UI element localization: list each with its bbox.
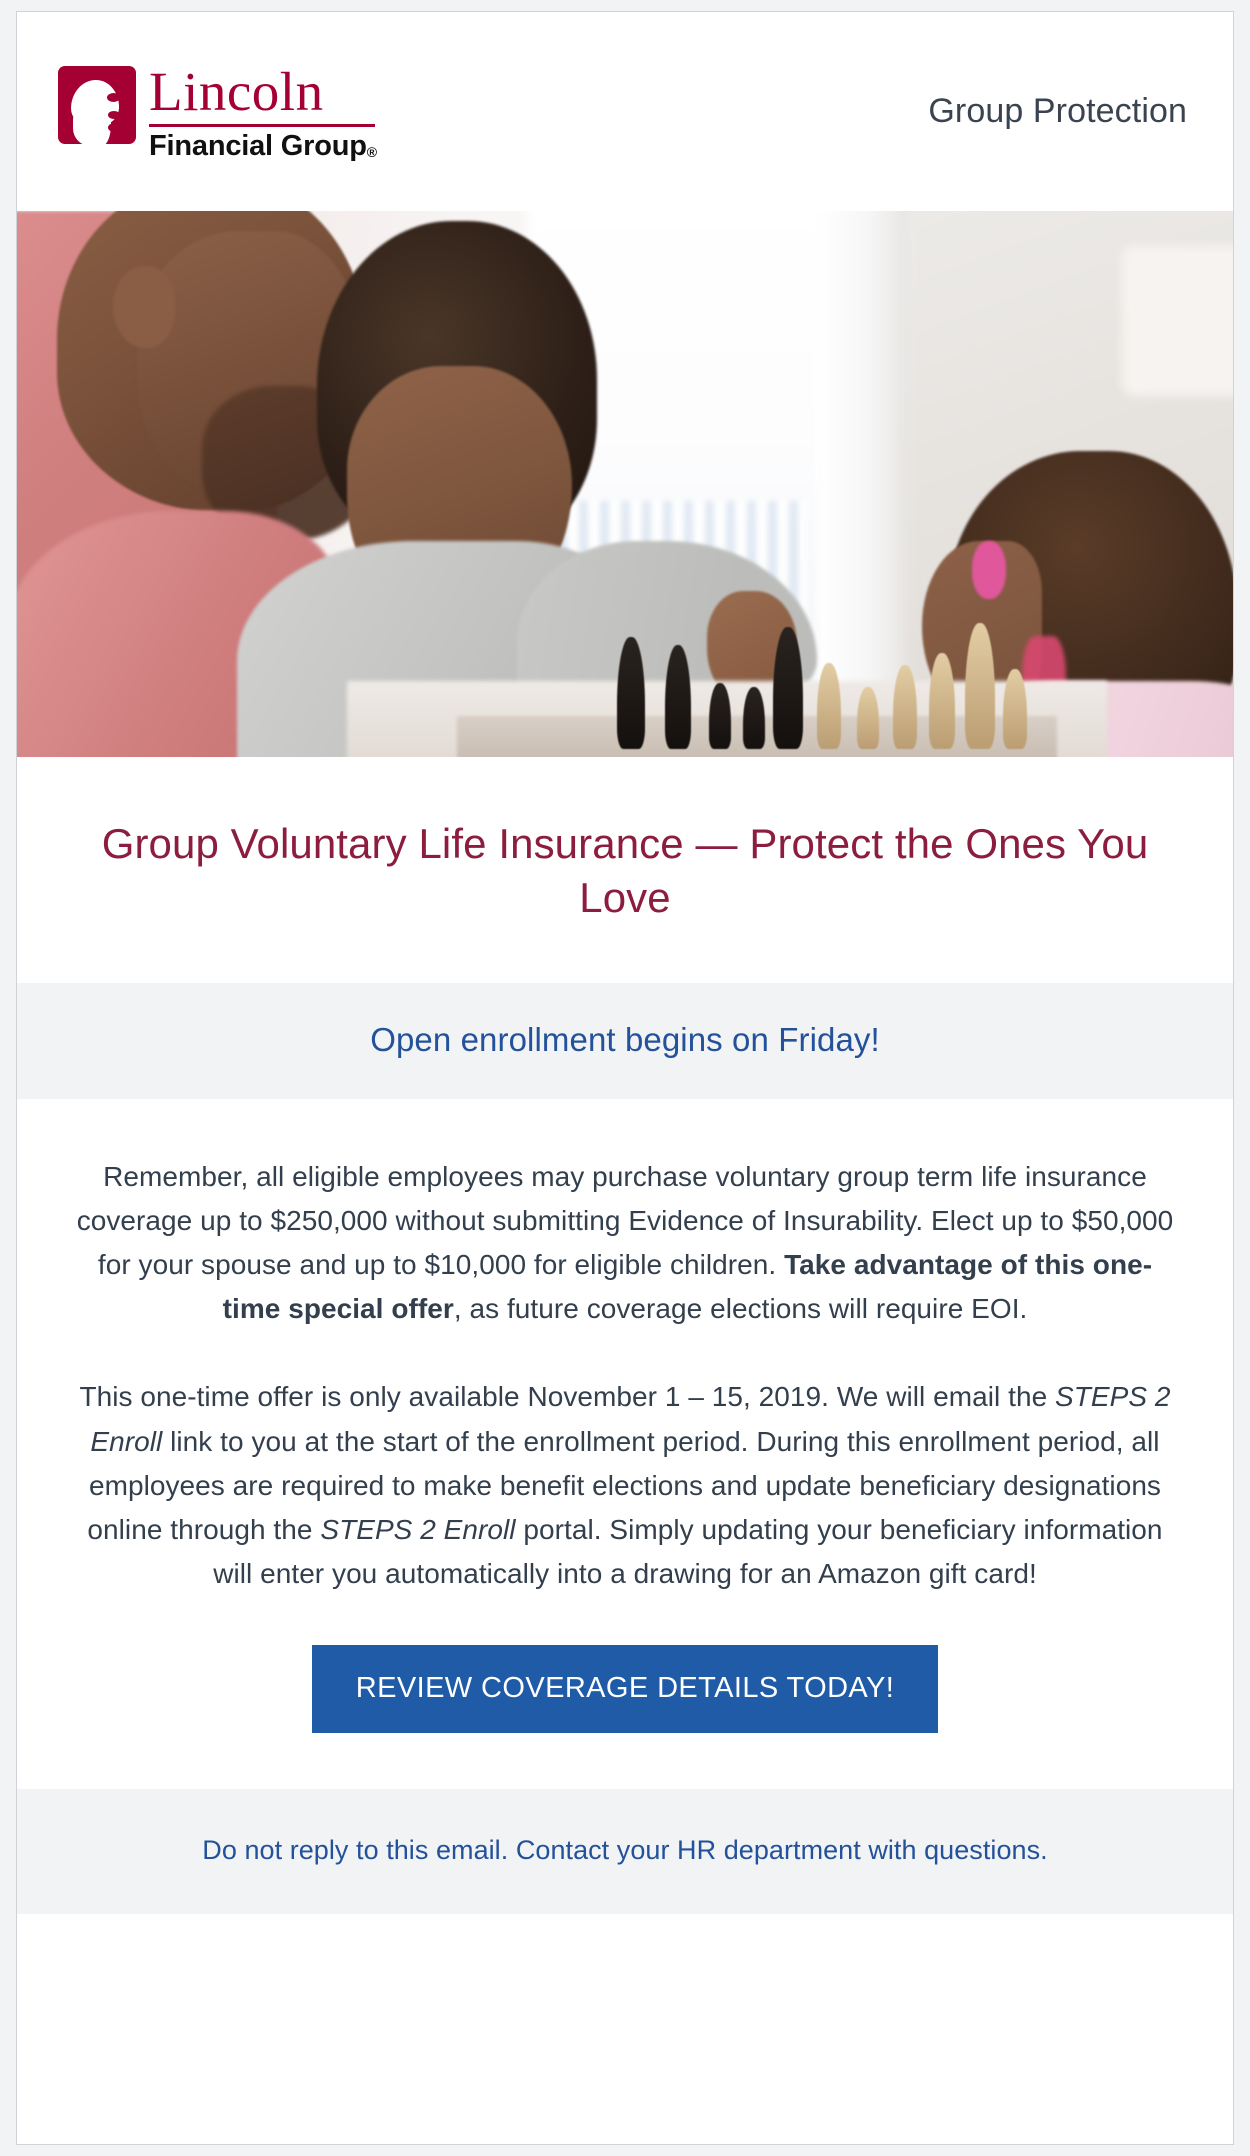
email-header: Lincoln Financial Group® Group Protectio… [17, 12, 1233, 211]
subheading-band: Open enrollment begins on Friday! [17, 983, 1233, 1099]
brand-wordmark: Lincoln Financial Group® [149, 62, 377, 161]
registered-trademark-mark: ® [367, 144, 377, 160]
header-tagline: Group Protection [928, 92, 1189, 131]
brand-wordmark-primary: Lincoln [149, 64, 377, 122]
hero-scene [17, 211, 1233, 757]
lincoln-profile-logo-icon [58, 66, 136, 144]
body-section: Remember, all eligible employees may pur… [17, 1099, 1233, 1789]
body-paragraph-2: This one-time offer is only available No… [75, 1375, 1175, 1596]
paragraph-2-italic-segment-2: STEPS 2 Enroll [320, 1514, 515, 1545]
footer-disclaimer-text: Do not reply to this email. Contact your… [57, 1835, 1193, 1866]
paragraph-1-segment-2: , as future coverage elections will requ… [454, 1293, 1028, 1324]
paragraph-2-segment-1: This one-time offer is only available No… [79, 1381, 1055, 1412]
brand-divider-rule [149, 124, 375, 127]
hero-image [17, 211, 1233, 757]
cta-container: REVIEW COVERAGE DETAILS TODAY! [75, 1641, 1175, 1789]
brand-wordmark-secondary: Financial Group [149, 130, 367, 162]
body-paragraph-1: Remember, all eligible employees may pur… [75, 1155, 1175, 1332]
email-footer: Do not reply to this email. Contact your… [17, 1789, 1233, 1914]
brand-wordmark-secondary-wrap: Financial Group® [149, 131, 377, 161]
review-coverage-details-button[interactable]: REVIEW COVERAGE DETAILS TODAY! [312, 1645, 938, 1733]
subheading-text: Open enrollment begins on Friday! [77, 1021, 1173, 1059]
brand-logo[interactable]: Lincoln Financial Group® [58, 62, 377, 161]
page-title: Group Voluntary Life Insurance — Protect… [95, 817, 1155, 925]
headline-section: Group Voluntary Life Insurance — Protect… [17, 757, 1233, 983]
email-card: Lincoln Financial Group® Group Protectio… [16, 11, 1234, 2145]
